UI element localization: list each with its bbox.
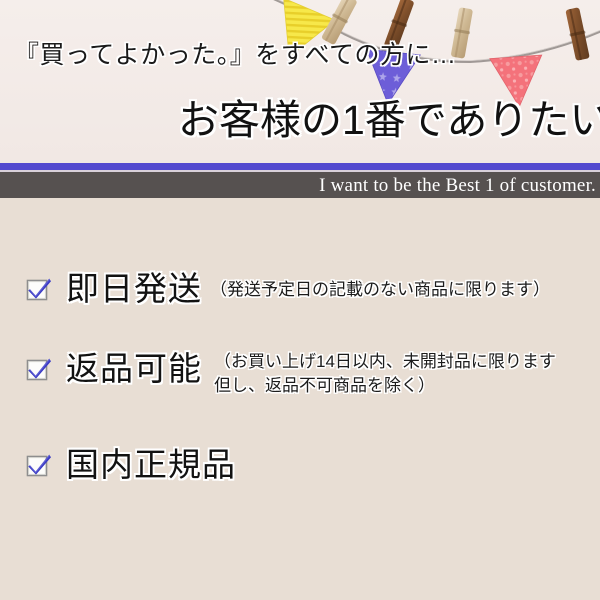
feature-note-line-1: （発送予定日の記載のない商品に限ります） [210, 280, 550, 299]
tagline-text: I want to be the Best 1 of customer. [319, 174, 596, 197]
feature-title: 即日発送 [66, 270, 202, 308]
list-item: 国内正規品 [0, 446, 600, 484]
feature-title: 返品可能 [66, 350, 202, 388]
hero-subheadline: 『買ってよかった。』をすべての方に… [14, 40, 457, 70]
checkbox-checked-icon [26, 452, 52, 478]
hero-banner: 『買ってよかった。』をすべての方に… お客様の1番でありたい。 [0, 0, 600, 163]
feature-title: 国内正規品 [66, 446, 236, 484]
feature-list: 即日発送 （発送予定日の記載のない商品に限ります） 返品可能 （お買い上げ14日… [0, 198, 600, 600]
feature-note: （発送予定日の記載のない商品に限ります） [210, 278, 550, 302]
promo-banner-page: 『買ってよかった。』をすべての方に… お客様の1番でありたい。 I want t… [0, 0, 600, 600]
feature-note-line-2: 但し、返品不可商品を除く） [214, 374, 556, 398]
feature-note-line-1: （お買い上げ14日以内、未開封品に限ります [214, 352, 556, 371]
tagline-bar: I want to be the Best 1 of customer. [0, 172, 600, 198]
checkbox-checked-icon [26, 356, 52, 382]
feature-note: （お買い上げ14日以内、未開封品に限ります 但し、返品不可商品を除く） [214, 350, 556, 398]
hero-text-block: 『買ってよかった。』をすべての方に… お客様の1番でありたい。 [0, 0, 600, 163]
list-item: 即日発送 （発送予定日の記載のない商品に限ります） [0, 270, 600, 308]
list-item: 返品可能 （お買い上げ14日以内、未開封品に限ります 但し、返品不可商品を除く） [0, 350, 600, 398]
hero-headline: お客様の1番でありたい。 [178, 96, 600, 144]
checkbox-checked-icon [26, 276, 52, 302]
accent-rule [0, 163, 600, 170]
